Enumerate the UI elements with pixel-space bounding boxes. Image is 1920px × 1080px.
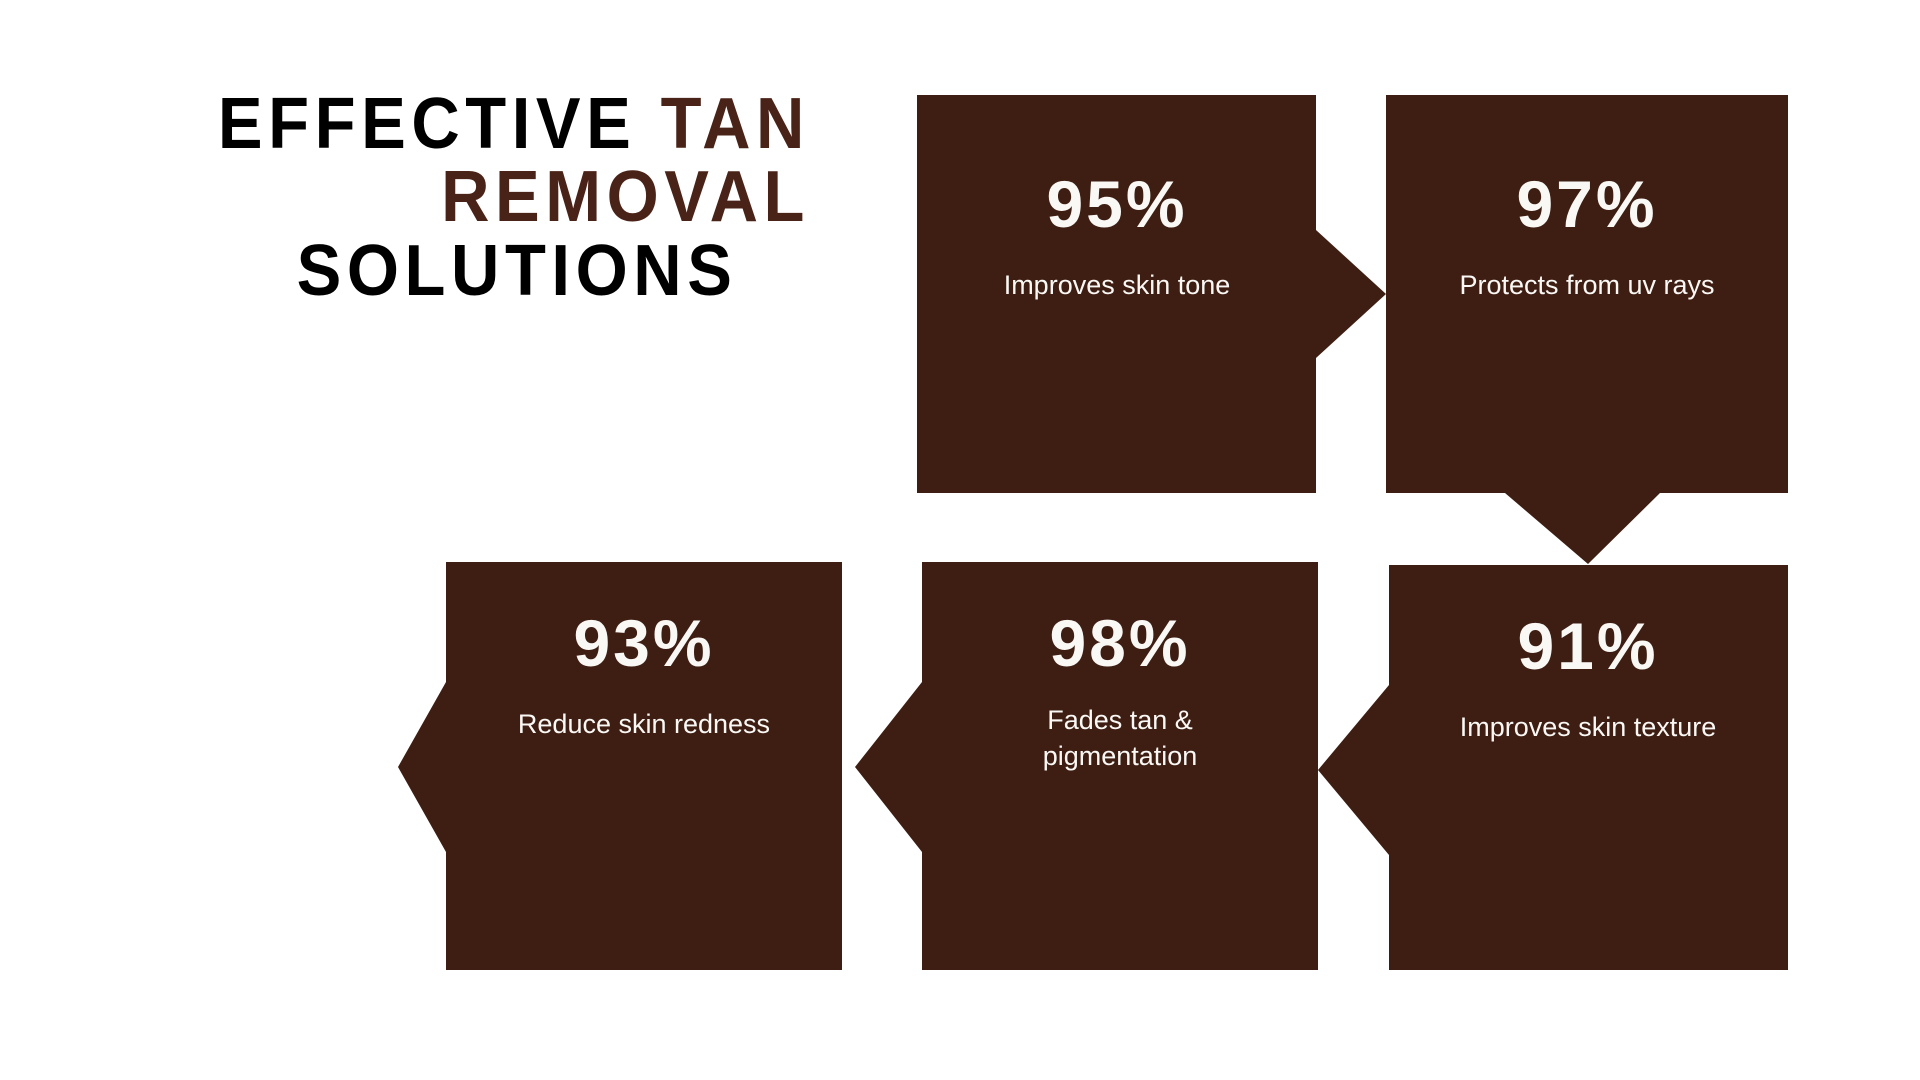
- title-word-solutions: SOLUTIONS: [150, 235, 810, 308]
- stat-card-reduce-skin-redness[interactable]: 93% Reduce skin redness: [396, 562, 842, 970]
- arrow-left-notched-shape-icon: [1316, 565, 1788, 970]
- title-word-removal: REMOVAL: [150, 161, 810, 234]
- arrow-right-shape-icon: [917, 95, 1387, 493]
- stat-card-improves-skin-tone[interactable]: 95% Improves skin tone: [917, 95, 1387, 493]
- arrow-left-shape-icon: [396, 562, 842, 970]
- arrow-left-notched-shape-icon: [853, 562, 1318, 970]
- stat-card-improves-skin-texture[interactable]: 91% Improves skin texture: [1316, 565, 1788, 970]
- stat-card-protects-from-uv-rays[interactable]: 97% Protects from uv rays: [1386, 95, 1788, 565]
- stat-card-fades-tan-and-pigmentation[interactable]: 98% Fades tan & pigmentation: [853, 562, 1318, 970]
- title-line-1: EFFECTIVE TAN: [150, 88, 810, 161]
- title-word-effective: EFFECTIVE: [218, 84, 661, 164]
- page-title: EFFECTIVE TAN REMOVAL SOLUTIONS: [100, 88, 810, 308]
- infographic-slide: EFFECTIVE TAN REMOVAL SOLUTIONS 95% Impr…: [0, 0, 1920, 1080]
- title-word-tan: TAN: [661, 84, 810, 164]
- arrow-down-shape-icon: [1386, 95, 1788, 565]
